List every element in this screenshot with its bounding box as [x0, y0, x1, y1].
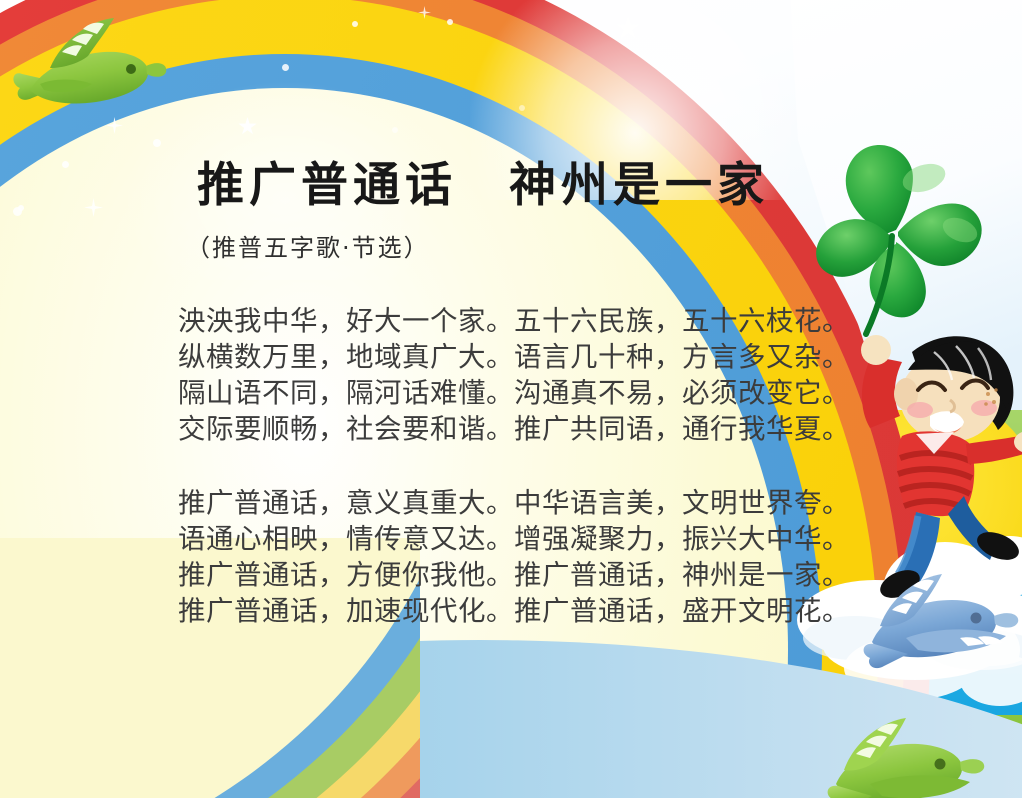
verse-body: 泱泱我中华，好大一个家。五十六民族，五十六枝花。 纵横数万里，地域真广大。语言几… [178, 303, 858, 667]
page-subtitle: （推普五字歌·节选） [186, 228, 430, 263]
page-title: 推广普通话 神州是一家 [0, 146, 966, 215]
sparkle-dot [519, 105, 525, 111]
sparkle-dot [282, 64, 289, 71]
poster-canvas: 推广普通话 神州是一家 （推普五字歌·节选） 泱泱我中华，好大一个家。五十六民族… [0, 0, 1022, 798]
bird-icon [848, 566, 1022, 686]
bird-icon [10, 12, 190, 127]
verse-line: 推广普通话，方便你我他。推广普通话，神州是一家。 [178, 557, 858, 593]
sparkle-dot [447, 19, 453, 25]
verse-line: 交际要顺畅，社会要和谐。推广共同语，通行我华夏。 [178, 411, 858, 447]
verse-line: 推广普通话，意义真重大。中华语言美，文明世界夸。 [178, 485, 858, 521]
verse-line: 纵横数万里，地域真广大。语言几十种，方言多又杂。 [178, 339, 858, 375]
stanza-2: 推广普通话，意义真重大。中华语言美，文明世界夸。 语通心相映，情传意又达。增强凝… [178, 485, 858, 629]
stanza-1: 泱泱我中华，好大一个家。五十六民族，五十六枝花。 纵横数万里，地域真广大。语言几… [178, 303, 858, 447]
sparkle-dot [392, 127, 398, 133]
verse-line: 泱泱我中华，好大一个家。五十六民族，五十六枝花。 [178, 303, 858, 339]
verse-line: 语通心相映，情传意又达。增强凝聚力，振兴大中华。 [178, 521, 858, 557]
verse-line: 推广普通话，加速现代化。推广普通话，盛开文明花。 [178, 593, 858, 629]
bird-icon [814, 714, 999, 798]
cheering-boy-illustration [838, 312, 1022, 602]
sparkle-dot [352, 21, 358, 27]
verse-line: 隔山语不同，隔河话难懂。沟通真不易，必须改变它。 [178, 375, 858, 411]
